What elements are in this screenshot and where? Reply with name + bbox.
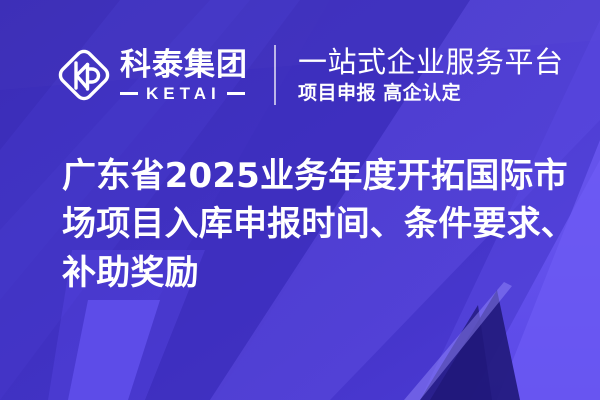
dash-right-icon [227,92,245,95]
company-name-cn: 科泰集团 [120,50,248,81]
promo-banner: 科泰集团 KETAI 一站式企业服务平台 项目申报 高企认定 广东省2025业务… [0,0,600,400]
headline-title: 广东省2025业务年度开拓国际市场项目入库申报时间、条件要求、补助奖励 [62,152,577,297]
slogan-block: 一站式企业服务平台 项目申报 高企认定 [298,47,564,105]
logo-wordmark: 科泰集团 KETAI [120,50,248,102]
brand-header: 科泰集团 KETAI 一站式企业服务平台 项目申报 高企认定 [56,40,564,110]
company-name-en-row: KETAI [120,85,248,102]
ketai-logo-icon [56,47,112,103]
slogan-secondary: 项目申报 高企认定 [298,82,564,105]
slogan-primary: 一站式企业服务平台 [298,47,564,77]
company-name-en: KETAI [138,85,227,102]
vertical-divider [274,45,276,105]
dash-left-icon [120,92,138,95]
